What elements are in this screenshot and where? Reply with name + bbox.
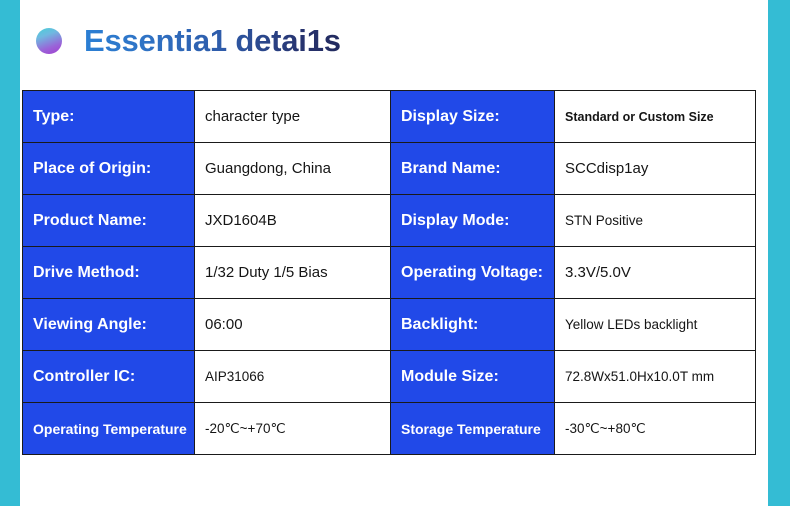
right-accent-rail xyxy=(768,0,790,506)
table-row: Viewing Angle: 06:00 Backlight: Yellow L… xyxy=(23,299,756,351)
spec-value-module-size: 72.8Wx51.0Hx10.0T mm xyxy=(555,351,756,403)
gradient-dot-icon xyxy=(36,28,62,54)
specification-table: Type: character type Display Size: Stand… xyxy=(22,90,756,455)
spec-key-storage-temperature: Storage Temperature xyxy=(391,403,555,455)
table-row: Drive Method: 1/32 Duty 1/5 Bias Operati… xyxy=(23,247,756,299)
spec-key-brand-name: Brand Name: xyxy=(391,143,555,195)
spec-value-viewing-angle: 06:00 xyxy=(195,299,391,351)
spec-value-operating-temperature: -20℃~+70℃ xyxy=(195,403,391,455)
spec-value-product-name: JXD1604B xyxy=(195,195,391,247)
spec-value-controller-ic: AIP31066 xyxy=(195,351,391,403)
table-row: Place of Origin: Guangdong, China Brand … xyxy=(23,143,756,195)
spec-key-type: Type: xyxy=(23,91,195,143)
spec-key-operating-voltage: Operating Voltage: xyxy=(391,247,555,299)
spec-value-drive-method: 1/32 Duty 1/5 Bias xyxy=(195,247,391,299)
spec-key-controller-ic: Controller IC: xyxy=(23,351,195,403)
spec-value-operating-voltage: 3.3V/5.0V xyxy=(555,247,756,299)
spec-key-module-size: Module Size: xyxy=(391,351,555,403)
spec-value-backlight: Yellow LEDs backlight xyxy=(555,299,756,351)
table-row: Product Name: JXD1604B Display Mode: STN… xyxy=(23,195,756,247)
left-accent-rail xyxy=(0,0,20,506)
spec-key-viewing-angle: Viewing Angle: xyxy=(23,299,195,351)
spec-value-type: character type xyxy=(195,91,391,143)
spec-value-brand-name: SCCdisp1ay xyxy=(555,143,756,195)
table-row: Type: character type Display Size: Stand… xyxy=(23,91,756,143)
spec-value-display-mode: STN Positive xyxy=(555,195,756,247)
page-title: Essentia1 detai1s xyxy=(84,23,341,59)
spec-value-display-size: Standard or Custom Size xyxy=(555,91,756,143)
spec-key-operating-temperature: Operating Temperature xyxy=(23,403,195,455)
page-root: Essentia1 detai1s Type: character type D… xyxy=(0,0,790,506)
spec-key-drive-method: Drive Method: xyxy=(23,247,195,299)
page-header: Essentia1 detai1s xyxy=(20,0,768,82)
table-row: Operating Temperature -20℃~+70℃ Storage … xyxy=(23,403,756,455)
spec-key-backlight: Backlight: xyxy=(391,299,555,351)
spec-value-storage-temperature: -30℃~+80℃ xyxy=(555,403,756,455)
spec-key-place-of-origin: Place of Origin: xyxy=(23,143,195,195)
spec-key-display-size: Display Size: xyxy=(391,91,555,143)
spec-value-place-of-origin: Guangdong, China xyxy=(195,143,391,195)
spec-key-product-name: Product Name: xyxy=(23,195,195,247)
spec-key-display-mode: Display Mode: xyxy=(391,195,555,247)
table-row: Controller IC: AIP31066 Module Size: 72.… xyxy=(23,351,756,403)
